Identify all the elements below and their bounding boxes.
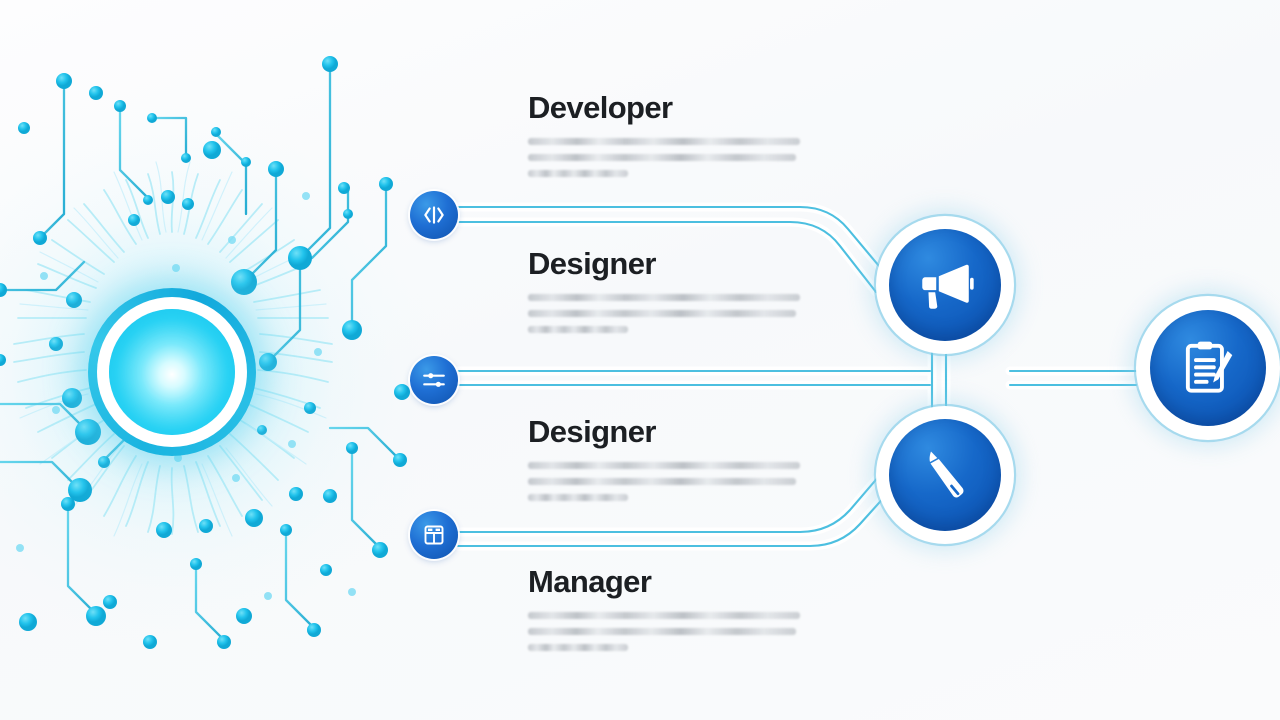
list-item: Manager [528,566,813,660]
body-line [528,612,800,619]
settings-sliders-icon-glyph [421,367,447,393]
orb-core [109,309,235,435]
layout-grid-icon[interactable] [410,511,458,559]
item-title: Developer [528,92,813,125]
infographic-canvas: Developer Designer Designer [0,0,1280,720]
central-glowing-orb [88,288,256,456]
body-line [528,294,800,301]
body-line [528,170,628,177]
body-line [528,310,796,317]
body-line [528,494,628,501]
megaphone-badge-disc [889,229,1001,341]
item-body [528,138,813,177]
megaphone-badge[interactable] [876,216,1014,354]
paintbrush-badge-disc [889,419,1001,531]
list-item: Designer [528,416,813,510]
list-item: Designer [528,248,813,342]
code-icon-glyph [421,202,447,228]
body-line [528,138,800,145]
layout-grid-icon-glyph [422,523,446,547]
content-list: Developer Designer Designer [528,0,818,720]
item-body [528,294,813,333]
code-icon[interactable] [410,191,458,239]
item-title: Designer [528,416,813,449]
item-title: Manager [528,566,813,599]
item-body [528,462,813,501]
item-title: Designer [528,248,813,281]
clipboard-badge-disc [1150,310,1266,426]
item-body [528,612,813,651]
body-line [528,326,628,333]
body-line [528,644,628,651]
settings-sliders-icon[interactable] [410,356,458,404]
list-item: Developer [528,92,813,186]
megaphone-icon [914,254,976,316]
body-line [528,462,800,469]
body-line [528,478,796,485]
clipboard-badge[interactable] [1136,296,1280,440]
paintbrush-badge[interactable] [876,406,1014,544]
clipboard-pen-icon [1177,337,1239,399]
body-line [528,628,796,635]
paintbrush-icon [915,445,975,505]
body-line [528,154,796,161]
